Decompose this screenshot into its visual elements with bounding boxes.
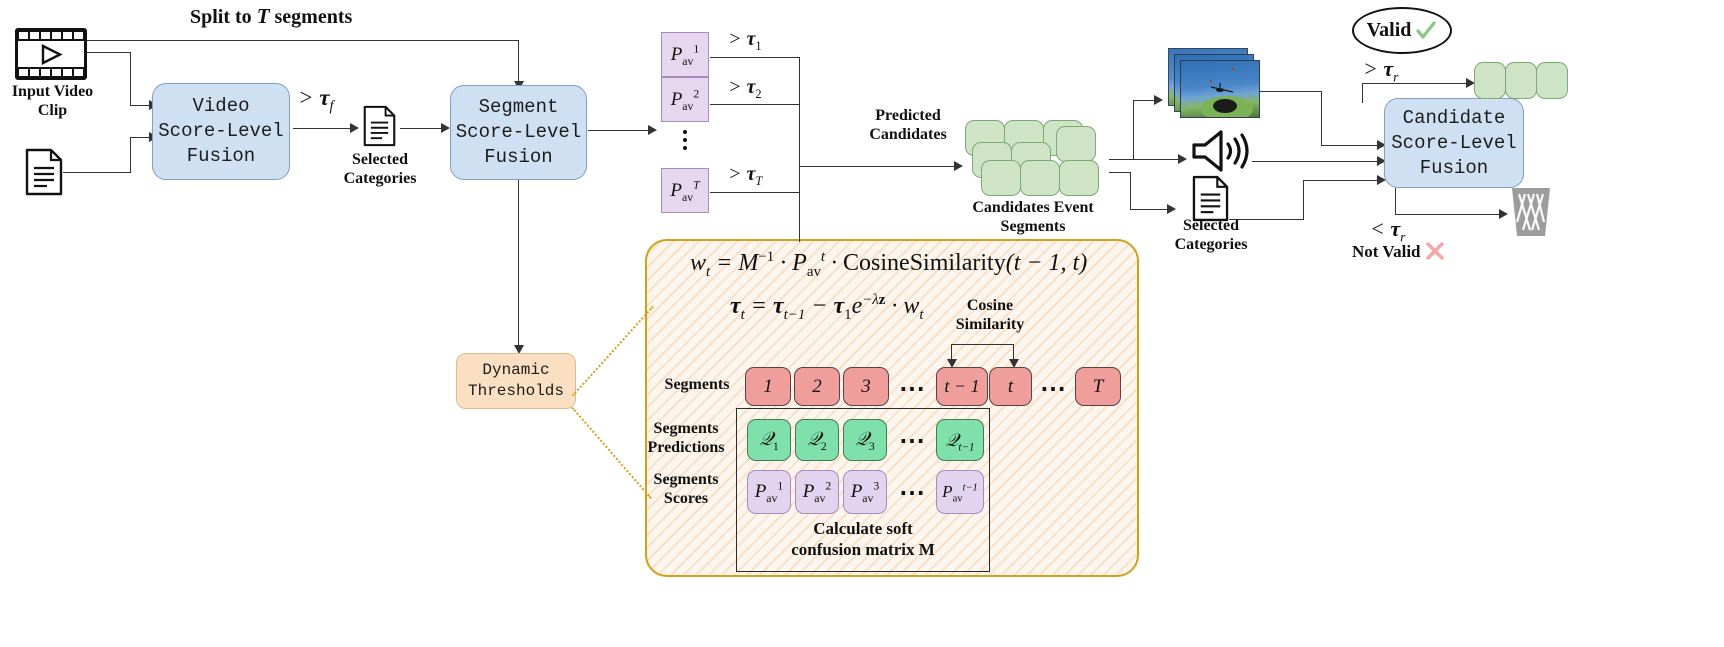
document-icon (25, 148, 63, 196)
segment-score-box-T: PavT (661, 168, 709, 213)
segment-score-1-label: Pav1 (671, 44, 700, 66)
segment-cell-label: t (1008, 376, 1013, 398)
not-valid-text: Not Valid (1352, 242, 1421, 261)
invalid-branch-h (1395, 214, 1500, 215)
segment-prediction-cell: 𝒬1 (747, 419, 791, 461)
segment-score-box-2: Pav2 (661, 77, 709, 122)
segment-score-cell-label: Pav1 (755, 481, 784, 503)
document-icon (363, 105, 396, 147)
video-in-h2 (130, 105, 150, 106)
segment-prediction-cell: 𝒬3 (843, 419, 887, 461)
modality-to-audio-h (1109, 159, 1179, 160)
cosine-similarity-label: Cosine Similarity (945, 296, 1035, 334)
selected-categories-label-2: Selected Categories (1138, 216, 1284, 254)
segment-score-2-label: Pav2 (671, 89, 700, 111)
predicted-candidates-arrow (954, 161, 963, 171)
candidate-segment (1020, 160, 1060, 196)
segment-prediction-cell: 𝒬t−1 (936, 419, 984, 461)
scores-row-ellipsis: ⋯ (899, 480, 928, 506)
valid-output-segment (1536, 62, 1568, 99)
candidates-event-segments-label: Candidates Event Segments (960, 198, 1106, 236)
segment-score-cell: Pav2 (795, 470, 839, 514)
video-out-line (293, 128, 351, 129)
modality-to-video-h (1133, 100, 1155, 101)
video-score-level-fusion-block[interactable]: Video Score-Level Fusion (152, 83, 290, 180)
segment-score-vertical-dots (683, 130, 687, 150)
segments-predictions-row-label: Segments Predictions (640, 419, 732, 457)
segment-score-cell-label: Pavt−1 (942, 482, 978, 502)
video-in-v (130, 52, 131, 105)
segment-score-box-1: Pav1 (661, 32, 709, 77)
modality-to-video-arrow (1154, 95, 1163, 105)
valid-branch-h (1362, 83, 1467, 84)
segment-cell: 3 (843, 367, 889, 406)
doc-in-h (63, 172, 130, 173)
threshold-tau-r-invalid: < τr (1370, 216, 1405, 242)
segment-score-cell: Pavt−1 (936, 470, 984, 514)
segment-cell: t (989, 367, 1032, 406)
formula-line-1: wt = M−1 · Pavt · CosineSimilarity(t − 1… (690, 250, 1087, 277)
dynamic-thresholds-block[interactable]: Dynamic Thresholds (456, 353, 576, 409)
valid-output-segment (1505, 62, 1537, 99)
segments-row-ellipsis-2: ⋯ (1040, 376, 1069, 402)
segment-out-arrow (648, 125, 657, 135)
sel-cat-to-segment-arrow (441, 123, 450, 133)
segment-score-cell: Pav1 (747, 470, 791, 514)
cosine-brace-top (951, 344, 1014, 345)
not-valid-label: Not Valid (1352, 241, 1445, 262)
threshold-tau-r-valid: > τr (1363, 56, 1398, 82)
split-label-tail: segments (275, 6, 353, 28)
segment-to-dyn-line (518, 180, 519, 348)
segment-score-cell-label: Pav2 (803, 481, 832, 503)
modality-split-h2 (1109, 172, 1131, 173)
threshold-tau-2: > τ2 (728, 76, 762, 99)
segment-prediction-label: 𝒬2 (807, 429, 827, 451)
segment-cell: t − 1 (936, 367, 988, 406)
valid-badge: Valid (1352, 7, 1452, 54)
video-to-fusion-v (1321, 91, 1322, 146)
predicted-candidates-line (800, 166, 955, 167)
input-video-label: Input Video Clip (0, 82, 105, 120)
segment-score-level-fusion-block[interactable]: Segment Score-Level Fusion (450, 85, 587, 180)
segment-prediction-label: 𝒬3 (855, 429, 875, 451)
segment-score-T-label: PavT (670, 180, 699, 202)
modality-to-text-arrow (1167, 204, 1176, 214)
formula-line-2: τt = τt−1 − τ1e−λz · wt (730, 293, 923, 320)
video-in-h (87, 52, 131, 53)
selected-categories-label-1: Selected Categories (325, 150, 435, 188)
threshold-tau-T: > τT (728, 163, 762, 186)
valid-label: Valid (1367, 19, 1412, 42)
invalid-branch-v (1395, 188, 1396, 215)
predicted-candidates-label: Predicted Candidates (843, 106, 973, 144)
panel-input-line (799, 200, 800, 242)
predictions-row-ellipsis: ⋯ (899, 428, 928, 454)
trash-icon (1508, 182, 1554, 243)
split-label-text: Split to (190, 6, 252, 28)
sel-cat-to-segment-line (400, 128, 442, 129)
valid-output-segment (1474, 62, 1506, 99)
invalid-branch-arrow (1499, 209, 1508, 219)
valid-branch-v (1362, 84, 1363, 103)
segment-score-cell: Pav3 (843, 470, 887, 514)
segment-prediction-cell: 𝒬2 (795, 419, 839, 461)
segment-score-level-fusion-label: Segment Score-Level Fusion (456, 95, 581, 170)
text-to-fusion-v (1303, 180, 1304, 220)
segment-cell-label: t − 1 (944, 376, 979, 397)
tauT-line (710, 192, 800, 193)
video-to-fusion-h2 (1321, 145, 1378, 146)
split-connector-down (518, 40, 519, 83)
candidate-segment (1059, 160, 1099, 196)
modality-split-v2 (1130, 172, 1131, 210)
audio-to-fusion-h (1252, 161, 1378, 162)
video-to-fusion-h (1260, 91, 1322, 92)
tau1-line (710, 57, 800, 58)
video-frames-icon (1180, 60, 1260, 118)
modality-to-text-h (1130, 209, 1168, 210)
segment-prediction-label: 𝒬1 (759, 429, 779, 451)
segment-cell-label: 3 (861, 376, 871, 398)
segments-row-label: Segments (657, 375, 737, 394)
segment-cell-label: T (1093, 376, 1104, 398)
split-label-var: T (257, 4, 270, 28)
split-label: Split to T segments (190, 4, 352, 29)
doc-in-v (130, 137, 131, 173)
video-score-level-fusion-label: Video Score-Level Fusion (158, 94, 283, 169)
candidate-segment (1056, 126, 1096, 162)
split-connector-line (87, 40, 519, 41)
segment-prediction-label: 𝒬t−1 (945, 430, 974, 451)
video-out-arrow (350, 123, 359, 133)
text-to-fusion-h2 (1303, 180, 1378, 181)
candidate-score-level-fusion-block[interactable]: Candidate Score-Level Fusion (1384, 98, 1524, 188)
threshold-tau-1: > τ1 (728, 28, 762, 51)
segment-out-line (588, 130, 650, 131)
candidate-score-level-fusion-label: Candidate Score-Level Fusion (1391, 106, 1516, 181)
segment-cell: 1 (745, 367, 791, 406)
modality-to-audio-arrow (1178, 154, 1187, 164)
segment-score-cell-label: Pav3 (851, 481, 880, 503)
segment-cell: T (1075, 367, 1121, 406)
dynamic-thresholds-label: Dynamic Thresholds (468, 360, 564, 402)
segment-cell: 2 (794, 367, 840, 406)
candidate-segment (981, 160, 1021, 196)
text-to-fusion-h (1229, 219, 1304, 220)
modality-split-v1 (1133, 100, 1134, 160)
speaker-icon (1190, 128, 1252, 179)
segment-cell-label: 2 (812, 376, 822, 398)
tau2-line (710, 104, 800, 105)
cross-icon (1425, 241, 1445, 261)
segment-cell-label: 1 (763, 376, 773, 398)
doc-in-h2 (130, 137, 150, 138)
segments-scores-row-label: Segments Scores (640, 470, 732, 508)
confusion-matrix-caption: Calculate soft confusion matrix M (735, 518, 991, 560)
dyn-panel-connector-top (572, 306, 654, 397)
check-icon (1415, 20, 1437, 42)
document-icon (1192, 175, 1229, 222)
film-clip-icon (15, 28, 87, 80)
threshold-tau-f: > τf (298, 85, 333, 111)
segments-row-ellipsis: ⋯ (899, 376, 928, 402)
